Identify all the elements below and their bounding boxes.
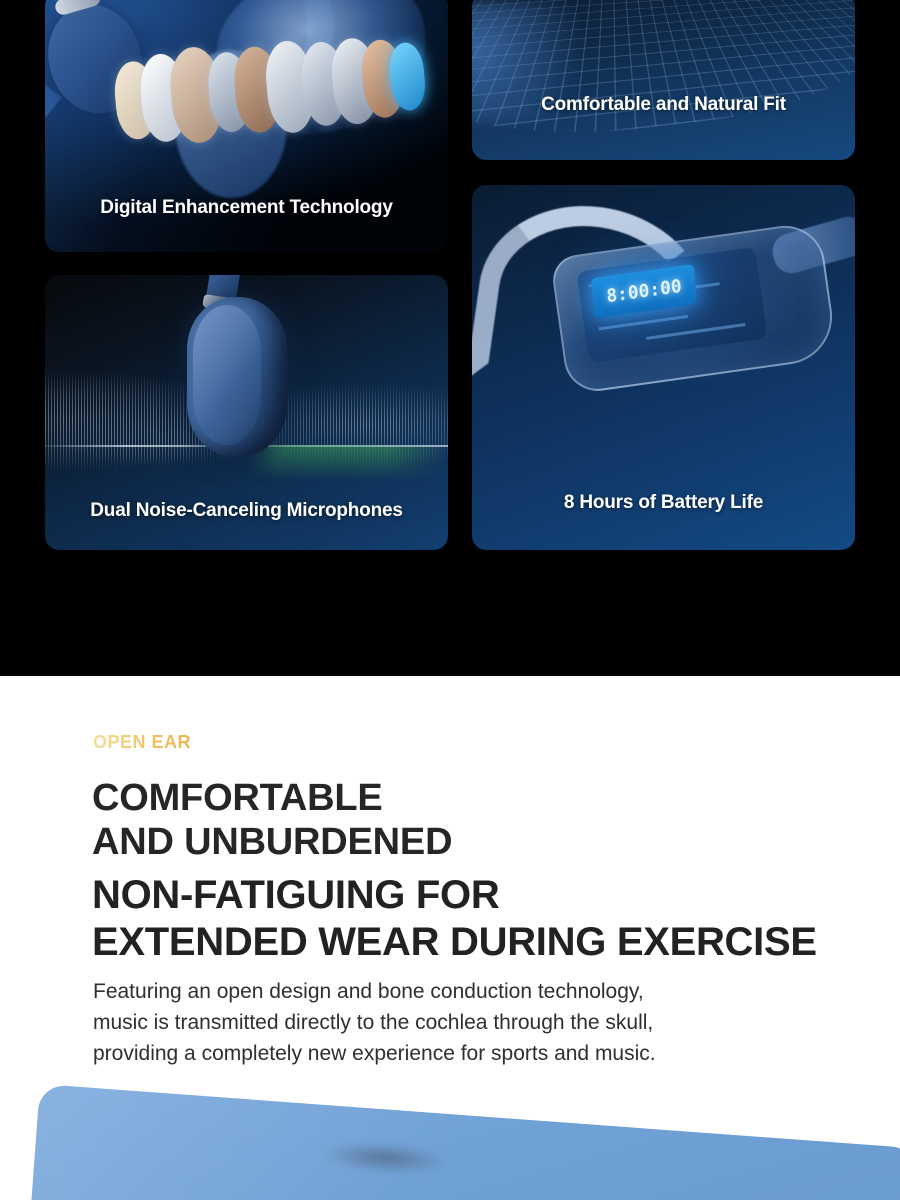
card-caption: Dual Noise-Canceling Microphones (45, 500, 448, 522)
body-paragraph: Featuring an open design and bone conduc… (93, 976, 823, 1069)
feature-card-dual-microphones[interactable]: Dual Noise-Canceling Microphones (45, 275, 448, 550)
headline-secondary: NON-FATIGUING FOR EXTENDED WEAR DURING E… (92, 872, 817, 966)
product-detail-page: Digital Enhancement Technology Comfortab… (0, 0, 900, 1200)
eyebrow-label: OPEN EAR (93, 732, 191, 753)
card-caption: Digital Enhancement Technology (45, 197, 448, 219)
headline-primary: COMFORTABLE AND UNBURDENED (92, 776, 452, 864)
battery-readout-value: 8:00:00 (606, 275, 683, 307)
feature-cards-section: Digital Enhancement Technology Comfortab… (0, 0, 900, 676)
feature-card-battery-life[interactable]: 8:00:00 8 Hours of Battery Life (472, 185, 855, 550)
earpiece-module-graphic (187, 297, 287, 457)
feature-card-digital-enhancement[interactable]: Digital Enhancement Technology (45, 0, 448, 252)
marketing-copy-section: OPEN EAR COMFORTABLE AND UNBURDENED NON-… (0, 676, 900, 1200)
waveform-green-band-graphic (245, 447, 448, 481)
feature-card-natural-fit[interactable]: Comfortable and Natural Fit (472, 0, 855, 160)
card-caption: 8 Hours of Battery Life (472, 492, 855, 514)
card-caption: Comfortable and Natural Fit (472, 94, 855, 116)
